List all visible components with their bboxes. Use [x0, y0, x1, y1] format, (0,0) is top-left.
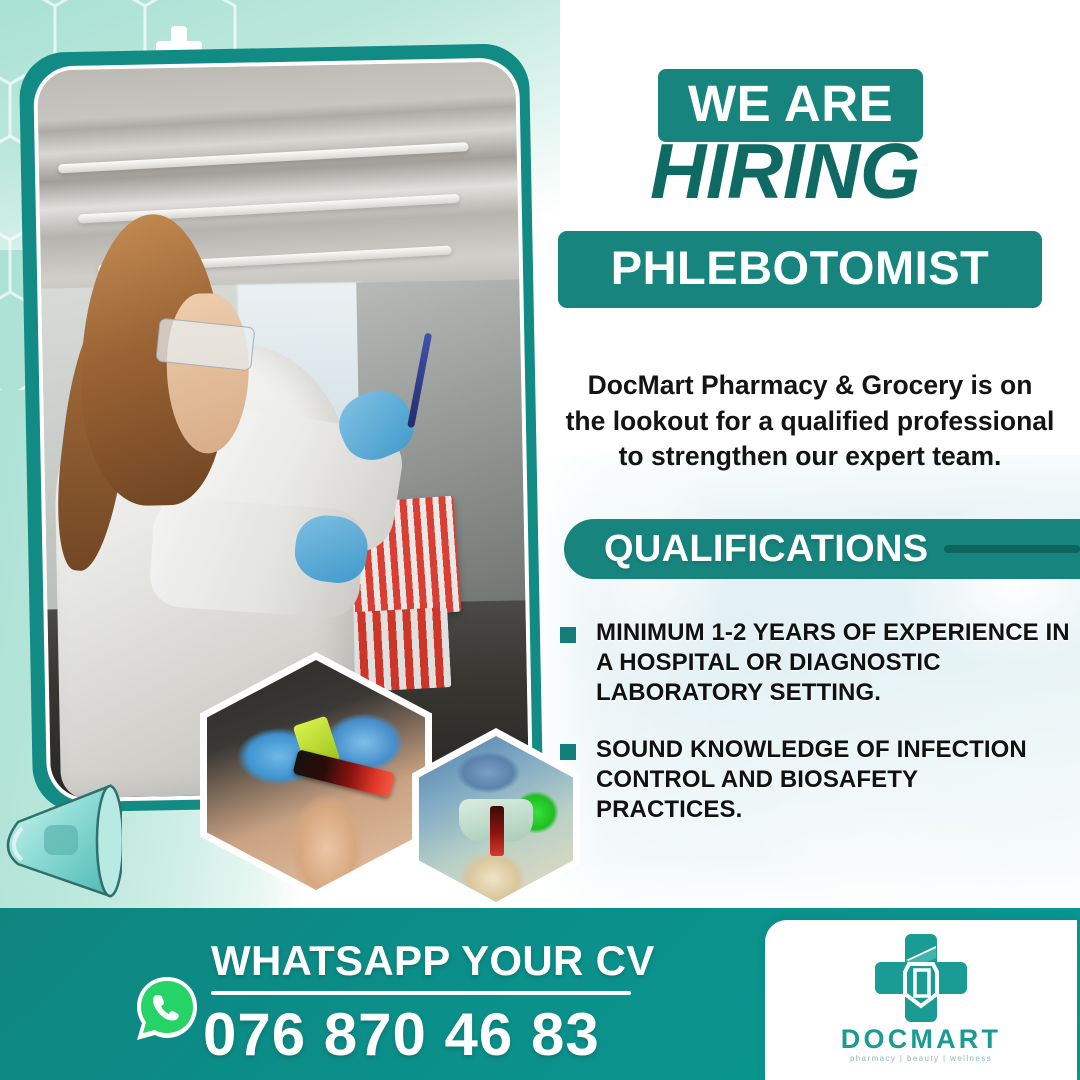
role-badge: PHLEBOTOMIST [558, 231, 1042, 308]
list-item: MINIMUM 1-2 YEARS OF EXPERIENCE IN A HOS… [560, 618, 1070, 707]
qualifications-banner: QUALIFICATIONS [564, 519, 1080, 579]
bullet-square-icon [560, 744, 576, 760]
qualifications-list: MINIMUM 1-2 YEARS OF EXPERIENCE IN A HOS… [560, 618, 1070, 853]
qualifications-label: QUALIFICATIONS [564, 528, 928, 571]
qualification-text: MINIMUM 1-2 YEARS OF EXPERIENCE IN A HOS… [596, 618, 1070, 707]
brand-tagline: pharmacy | beauty | wellness [765, 1054, 1077, 1063]
megaphone-icon [0, 778, 122, 903]
blurb-line-2: the lookout for a qualified professional [550, 404, 1070, 440]
bullet-square-icon [560, 627, 576, 643]
content-rail: WE ARE HIRING PHLEBOTOMIST DocMart Pharm… [540, 0, 1080, 915]
recruitment-poster: WE ARE HIRING PHLEBOTOMIST DocMart Pharm… [0, 0, 1080, 1080]
intro-blurb: DocMart Pharmacy & Grocery is on the loo… [550, 368, 1070, 475]
brand-wordmark: DOCMART [765, 1024, 1077, 1055]
whatsapp-icon[interactable] [132, 974, 202, 1046]
cta-title: WHATSAPP YOUR CV [211, 937, 655, 985]
blurb-line-1: DocMart Pharmacy & Grocery is on [550, 368, 1070, 404]
blood-draw-photo [200, 652, 432, 898]
list-item: SOUND KNOWLEDGE OF INFECTION CONTROL AND… [560, 735, 1070, 824]
divider [211, 991, 631, 995]
brand-logo-card: DOCMART pharmacy | beauty | wellness [765, 920, 1077, 1080]
eyebrow-label: WE ARE [688, 75, 893, 132]
page-title: HIRING [650, 132, 920, 210]
role-label: PHLEBOTOMIST [611, 241, 990, 294]
blurb-line-3: to strengthen our expert team. [550, 439, 1070, 475]
medical-cross-logo-icon [859, 932, 983, 1024]
banner-tail-line [944, 545, 1080, 553]
qualification-text: SOUND KNOWLEDGE OF INFECTION CONTROL AND… [596, 735, 1070, 824]
phone-number: 076 870 46 83 [203, 1000, 600, 1069]
